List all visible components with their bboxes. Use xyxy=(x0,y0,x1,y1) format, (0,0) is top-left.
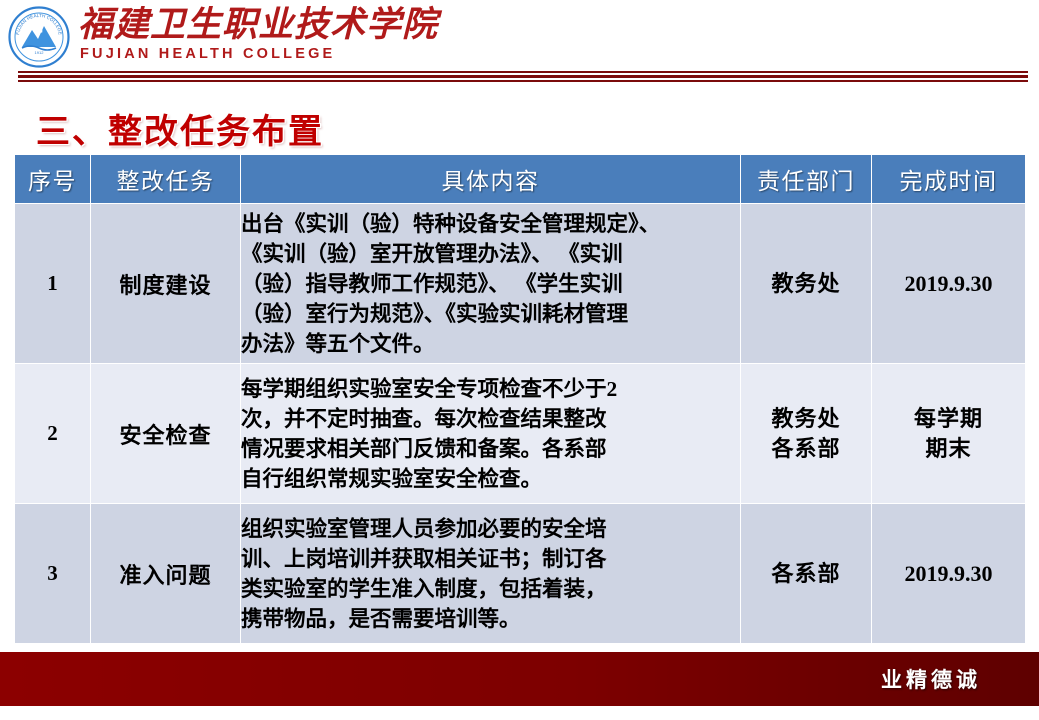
table-row: 1 制度建设 出台《实训（验）特种设备安全管理规定》、 《实训（验）室开放管理办… xyxy=(15,204,1026,364)
cell-deadline: 每学期 期末 xyxy=(872,364,1026,504)
slide-header: 1912 FUJIAN HEALTH COLLEGE 福建卫生职业技术学院 FU… xyxy=(0,0,1039,92)
content-line: 类实验室的学生准入制度，包括着装， xyxy=(241,574,740,604)
content-line: 训、上岗培训并获取相关证书；制订各 xyxy=(241,544,740,574)
deadline-line: 2019.9.30 xyxy=(872,559,1025,589)
column-header-task: 整改任务 xyxy=(91,155,241,204)
deadline-line: 每学期 xyxy=(872,404,1025,434)
column-header-content: 具体内容 xyxy=(241,155,741,204)
cell-index: 1 xyxy=(15,204,91,364)
header-divider-rules xyxy=(18,71,1028,82)
content-line: 次，并不定时抽查。每次检查结果整改 xyxy=(241,404,740,434)
content-line: 每学期组织实验室安全专项检查不少于2 xyxy=(241,374,740,404)
table-row: 2 安全检查 每学期组织实验室安全专项检查不少于2 次，并不定时抽查。每次检查结… xyxy=(15,364,1026,504)
cell-index: 2 xyxy=(15,364,91,504)
svg-text:1912: 1912 xyxy=(35,50,45,55)
page-title: 三、整改任务布置 xyxy=(36,104,324,153)
college-name-cn: 福建卫生职业技术学院 xyxy=(78,4,438,46)
content-line: 组织实验室管理人员参加必要的安全培 xyxy=(241,514,740,544)
content-line: 办法》等五个文件。 xyxy=(241,329,740,359)
college-name-en: FUJIAN HEALTH COLLEGE xyxy=(78,46,438,63)
department-line: 各系部 xyxy=(741,434,871,464)
deadline-line: 2019.9.30 xyxy=(872,269,1025,299)
cell-content: 组织实验室管理人员参加必要的安全培 训、上岗培训并获取相关证书；制订各 类实验室… xyxy=(241,504,741,644)
cell-index: 3 xyxy=(15,504,91,644)
content-line: （验）指导教师工作规范》、 《学生实训 xyxy=(241,269,740,299)
column-header-time: 完成时间 xyxy=(872,155,1026,204)
cell-task: 安全检查 xyxy=(91,364,241,504)
cell-department: 教务处 各系部 xyxy=(741,364,872,504)
college-identity: 福建卫生职业技术学院 FUJIAN HEALTH COLLEGE xyxy=(78,4,438,68)
cell-task: 准入问题 xyxy=(91,504,241,644)
rectification-task-table: 序号 整改任务 具体内容 责任部门 完成时间 1 制度建设 出台《实训（验）特种… xyxy=(14,154,1025,644)
column-header-index: 序号 xyxy=(15,155,91,204)
table-header-row: 序号 整改任务 具体内容 责任部门 完成时间 xyxy=(15,155,1026,204)
content-line: 《实训（验）室开放管理办法》、 《实训 xyxy=(241,239,740,269)
deadline-line: 期末 xyxy=(872,434,1025,464)
department-line: 教务处 xyxy=(741,269,871,299)
department-line: 各系部 xyxy=(741,559,871,589)
cell-deadline: 2019.9.30 xyxy=(872,204,1026,364)
cell-task: 制度建设 xyxy=(91,204,241,364)
content-line: 携带物品，是否需要培训等。 xyxy=(241,604,740,634)
department-line: 教务处 xyxy=(741,404,871,434)
column-header-dept: 责任部门 xyxy=(741,155,872,204)
slide-footer: 业精德诚 xyxy=(0,652,1039,706)
content-line: （验）室行为规范》、《实验实训耗材管理 xyxy=(241,299,740,329)
content-line: 出台《实训（验）特种设备安全管理规定》、 xyxy=(241,209,740,239)
footer-motto: 业精德诚 xyxy=(881,664,981,694)
cell-department: 教务处 xyxy=(741,204,872,364)
table-row: 3 准入问题 组织实验室管理人员参加必要的安全培 训、上岗培训并获取相关证书；制… xyxy=(15,504,1026,644)
content-line: 自行组织常规实验室安全检查。 xyxy=(241,464,740,494)
cell-deadline: 2019.9.30 xyxy=(872,504,1026,644)
cell-department: 各系部 xyxy=(741,504,872,644)
divider-line-bottom xyxy=(18,80,1028,82)
content-line: 情况要求相关部门反馈和备案。各系部 xyxy=(241,434,740,464)
college-seal-logo-icon: 1912 FUJIAN HEALTH COLLEGE xyxy=(8,6,70,68)
cell-content: 出台《实训（验）特种设备安全管理规定》、 《实训（验）室开放管理办法》、 《实训… xyxy=(241,204,741,364)
cell-content: 每学期组织实验室安全专项检查不少于2 次，并不定时抽查。每次检查结果整改 情况要… xyxy=(241,364,741,504)
